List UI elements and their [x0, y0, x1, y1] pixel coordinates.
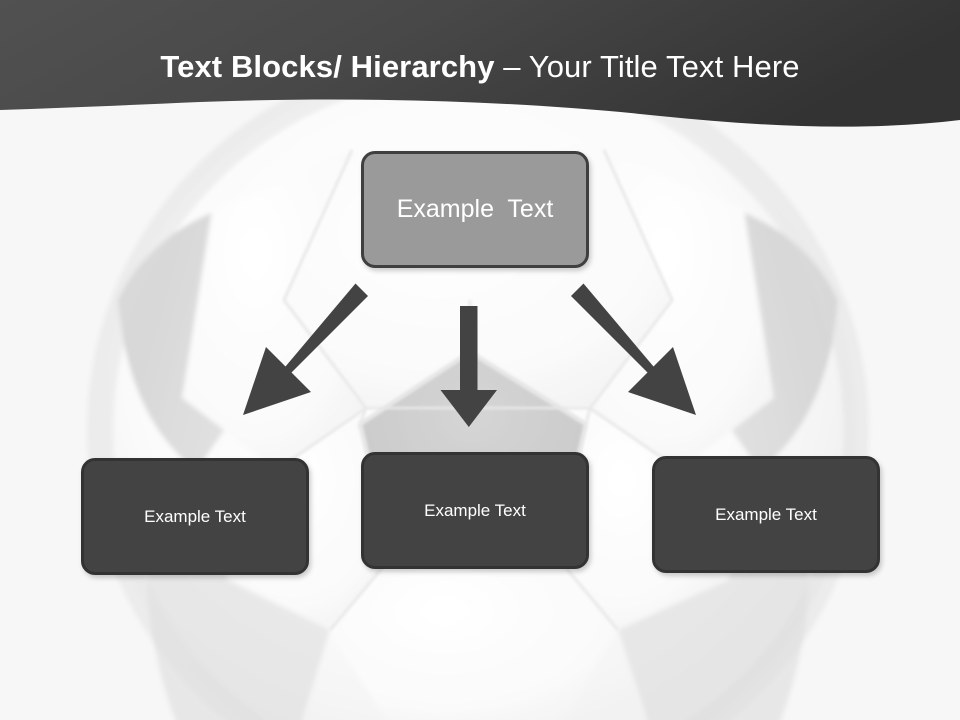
- hierarchy-child-label-1: Example Text: [144, 507, 246, 527]
- hierarchy-root-label: Example Text: [397, 195, 554, 224]
- hierarchy-child-node-3[interactable]: Example Text: [652, 456, 880, 573]
- hierarchy-child-label-3: Example Text: [715, 505, 817, 525]
- page-title-bold: Text Blocks/ Hierarchy: [160, 49, 503, 84]
- page-title-regular: – Your Title Text Here: [503, 49, 799, 84]
- slide-canvas: Text Blocks/ Hierarchy – Your Title Text…: [0, 0, 960, 720]
- hierarchy-child-label-2: Example Text: [424, 501, 526, 521]
- hierarchy-root-node[interactable]: Example Text: [361, 151, 589, 268]
- hierarchy-child-node-1[interactable]: Example Text: [81, 458, 309, 575]
- hierarchy-child-node-2[interactable]: Example Text: [361, 452, 589, 569]
- page-title: Text Blocks/ Hierarchy – Your Title Text…: [0, 48, 960, 86]
